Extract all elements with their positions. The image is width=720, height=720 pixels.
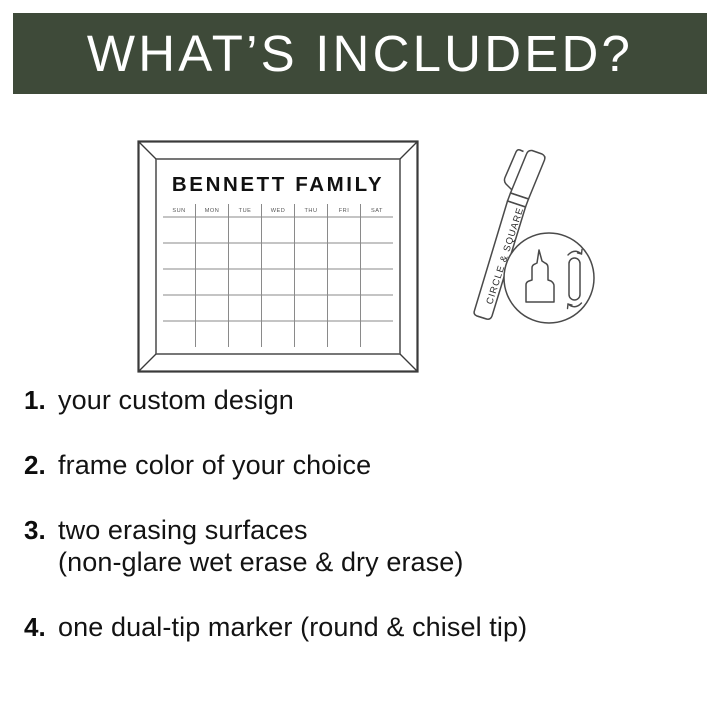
svg-text:MON: MON (205, 208, 220, 214)
list-item-number: 1. (24, 385, 58, 416)
list-item: 1. your custom design (0, 385, 720, 417)
header-banner: WHAT’S INCLUDED? (13, 13, 707, 94)
list-item: 4. one dual-tip marker (round & chisel t… (0, 612, 720, 644)
calendar-illustration: BENNETT FAMILY SUN MON TUE WED THU FRI S… (137, 140, 419, 373)
list-item-text: two erasing surfaces (non-glare wet eras… (58, 515, 463, 579)
round-tip-icon (569, 258, 580, 300)
svg-text:TUE: TUE (239, 208, 252, 214)
list-item-number: 2. (24, 450, 58, 481)
svg-text:THU: THU (305, 208, 318, 214)
calendar-board-title: BENNETT FAMILY (172, 173, 384, 196)
svg-text:SAT: SAT (371, 208, 383, 214)
svg-text:WED: WED (271, 208, 286, 214)
list-item-number: 4. (24, 612, 58, 643)
illustration-row: BENNETT FAMILY SUN MON TUE WED THU FRI S… (0, 120, 720, 370)
list-item-text: one dual-tip marker (round & chisel tip) (58, 612, 527, 644)
list-item-text: frame color of your choice (58, 450, 371, 482)
svg-text:SUN: SUN (172, 208, 185, 214)
list-item-number: 3. (24, 515, 58, 546)
page-title: WHAT’S INCLUDED? (87, 28, 633, 79)
included-items-list: 1. your custom design 2. frame color of … (0, 385, 720, 644)
marker-illustration: CIRCLE & SQUARE (466, 140, 606, 373)
list-item: 2. frame color of your choice (0, 450, 720, 482)
list-item-text: your custom design (58, 385, 294, 417)
svg-text:FRI: FRI (339, 208, 350, 214)
list-item: 3. two erasing surfaces (non-glare wet e… (0, 515, 720, 579)
